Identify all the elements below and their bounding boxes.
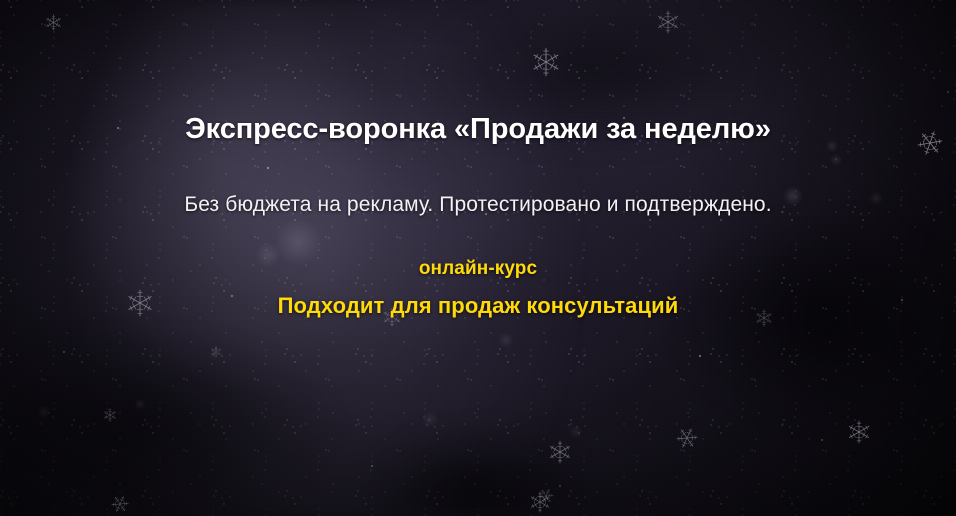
banner-content: Экспресс-воронка «Продажи за неделю» Без… [0,0,956,516]
banner-tagline: Подходит для продаж консультаций [0,293,956,319]
page-title: Экспресс-воронка «Продажи за неделю» [0,113,956,146]
hero-banner: Экспресс-воронка «Продажи за неделю» Без… [0,0,956,516]
banner-kicker: онлайн-курс [0,258,956,280]
banner-subtitle: Без бюджета на рекламу. Протестировано и… [0,193,956,217]
